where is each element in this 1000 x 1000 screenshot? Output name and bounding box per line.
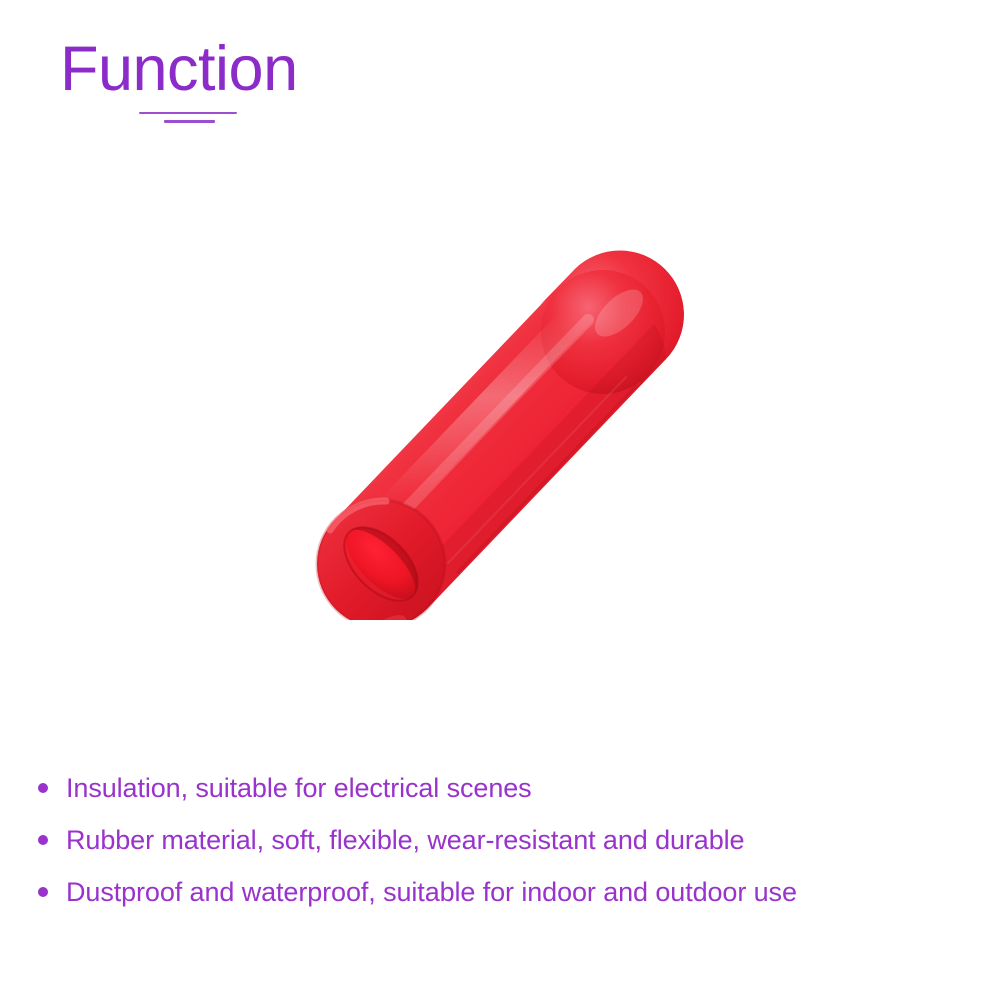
page-title: Function [60, 38, 298, 101]
bullet-icon [38, 887, 48, 897]
feature-list: Insulation, suitable for electrical scen… [34, 762, 974, 918]
title-underline-primary [139, 112, 237, 114]
product-figure [250, 180, 750, 620]
title-underline-secondary [164, 120, 215, 123]
title-block: Function [60, 38, 660, 138]
list-item: Dustproof and waterproof, suitable for i… [34, 866, 974, 918]
list-item-label: Insulation, suitable for electrical scen… [66, 771, 532, 805]
bullet-icon [38, 835, 48, 845]
cap-open-end [317, 500, 445, 620]
list-item: Rubber material, soft, flexible, wear-re… [34, 814, 974, 866]
list-item-label: Rubber material, soft, flexible, wear-re… [66, 823, 744, 857]
list-item-label: Dustproof and waterproof, suitable for i… [66, 875, 797, 909]
bullet-icon [38, 783, 48, 793]
list-item: Insulation, suitable for electrical scen… [34, 762, 974, 814]
red-rubber-end-cap-image [250, 180, 750, 620]
